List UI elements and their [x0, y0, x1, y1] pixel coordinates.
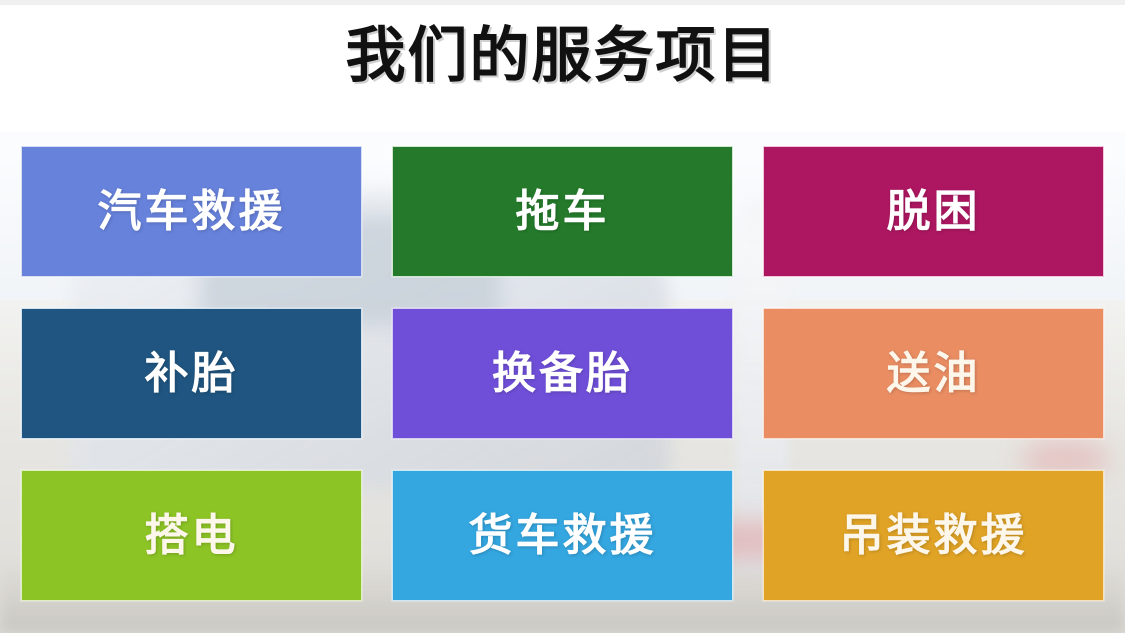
service-tile-label: 汽车救援 — [98, 190, 286, 234]
service-tile-jump-start[interactable]: 搭电 — [21, 470, 362, 601]
service-items-slide: 我们的服务项目 汽车救援 拖车 脱困 补胎 换备胎 送油 搭电 货车救援 吊装救… — [0, 0, 1125, 633]
service-tile-label: 脱困 — [887, 190, 981, 234]
service-tile-spare-tire-change[interactable]: 换备胎 — [392, 308, 733, 439]
page-title: 我们的服务项目 — [0, 20, 1125, 92]
service-tile-label: 搭电 — [145, 514, 239, 558]
service-tile-fuel-delivery[interactable]: 送油 — [763, 308, 1104, 439]
service-tile-extrication[interactable]: 脱困 — [763, 146, 1104, 277]
service-tile-car-rescue[interactable]: 汽车救援 — [21, 146, 362, 277]
service-tile-label: 吊装救援 — [840, 514, 1028, 558]
service-tile-tire-repair[interactable]: 补胎 — [21, 308, 362, 439]
service-tile-label: 补胎 — [145, 352, 239, 396]
service-tile-label: 送油 — [887, 352, 981, 396]
service-tile-crane-rescue[interactable]: 吊装救援 — [763, 470, 1104, 601]
service-tile-grid: 汽车救援 拖车 脱困 补胎 换备胎 送油 搭电 货车救援 吊装救援 — [21, 146, 1104, 601]
service-tile-label: 拖车 — [516, 190, 610, 234]
service-tile-label: 换备胎 — [492, 352, 633, 396]
service-tile-label: 货车救援 — [469, 514, 657, 558]
service-tile-truck-rescue[interactable]: 货车救援 — [392, 470, 733, 601]
background-top-divider — [0, 0, 1125, 5]
service-tile-towing[interactable]: 拖车 — [392, 146, 733, 277]
